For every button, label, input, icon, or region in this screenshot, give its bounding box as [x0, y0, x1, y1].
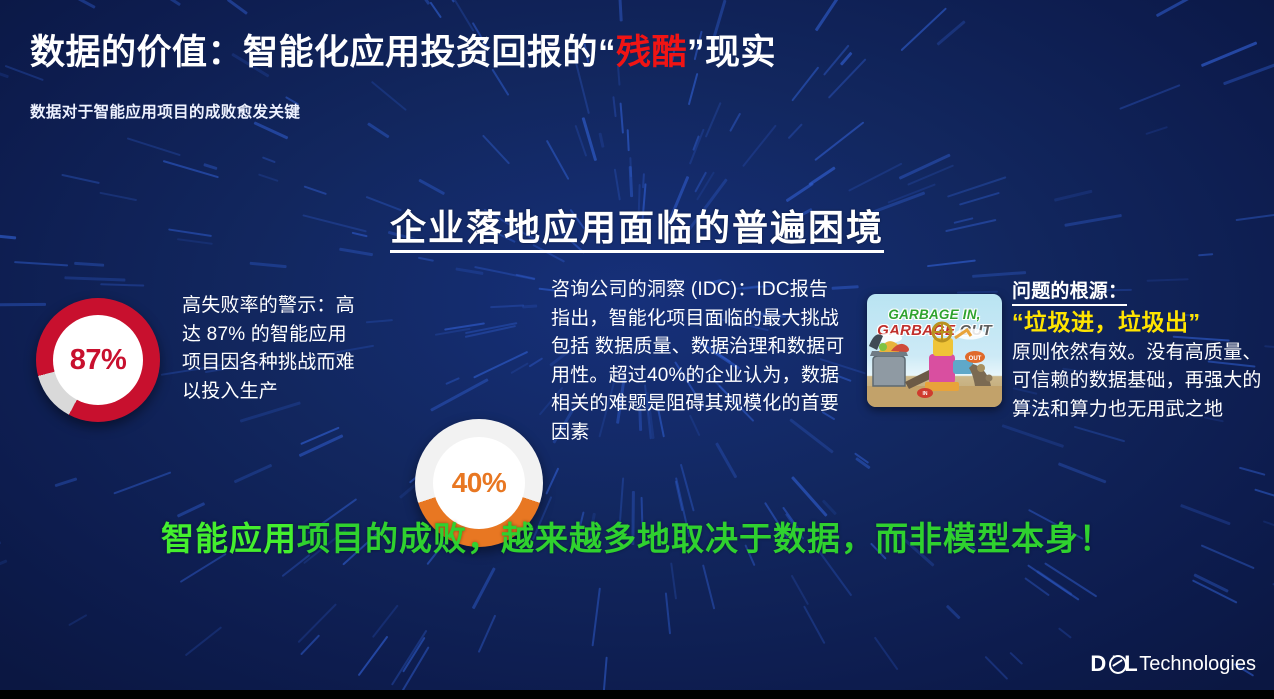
stats-row: 87% 高失败率的警示：高达 87% 的智能应用项目因各种挑战而难以投入生产 4…	[0, 278, 1274, 488]
page-title-highlight: 残酷	[616, 33, 687, 72]
svg-text:OUT: OUT	[969, 356, 982, 362]
root-cause-body: 原则依然有效。没有高质量、可信赖的数据基础，再强大的算法和算力也无用武之地	[1012, 339, 1262, 425]
stat-text-root-cause: 问题的根源： “垃圾进，垃圾出” 原则依然有效。没有高质量、可信赖的数据基础，再…	[1012, 278, 1262, 424]
root-cause-heading: 问题的根源：	[1012, 280, 1127, 306]
bottom-black-strip	[0, 690, 1274, 699]
dell-technologies-text: Technologies	[1139, 653, 1256, 676]
garbage-in-garbage-out-image: GARBAGE IN, GARBAGE OUT	[867, 294, 1002, 407]
conclusion-banner: 智能应用项目的成败，越来越多地取决于数据，而非模型本身！	[0, 512, 1274, 560]
conclusion-highlight: 智能应用	[161, 520, 297, 557]
root-cause-quote: “垃圾进，垃圾出”	[1012, 307, 1262, 338]
page-title-post: ”现实	[687, 33, 776, 72]
section-heading-text: 企业落地应用面临的普遍困境	[390, 207, 884, 253]
garbage-illustration-art: OUT IN	[867, 294, 1002, 407]
section-heading: 企业落地应用面临的普遍困境	[0, 199, 1274, 251]
slide: 数据的价值：智能化应用投资回报的“残酷”现实 数据对于智能应用项目的成败愈发关键…	[0, 0, 1274, 699]
donut-87-value: 87%	[53, 315, 143, 405]
conclusion-rest: 项目的成败，越来越多地取决于数据，而非模型本身！	[297, 520, 1113, 557]
page-title-pre: 数据的价值：智能化应用投资回报的“	[30, 33, 616, 72]
stat-text-failure-rate: 高失败率的警示：高达 87% 的智能应用项目因各种挑战而难以投入生产	[182, 292, 357, 406]
page-title: 数据的价值：智能化应用投资回报的“残酷”现实	[30, 24, 776, 75]
donut-chart-87: 87%	[36, 298, 160, 422]
stat-text-idc-insight: 咨询公司的洞察 (IDC)：IDC报告指出，智能化项目面临的最大挑战包括 数据质…	[551, 276, 847, 447]
svg-text:IN: IN	[923, 391, 928, 397]
page-subtitle: 数据对于智能应用项目的成败愈发关键	[30, 100, 300, 122]
dell-wordmark: D LL	[1090, 651, 1137, 677]
dell-technologies-logo: D LL Technologies	[1090, 651, 1256, 677]
